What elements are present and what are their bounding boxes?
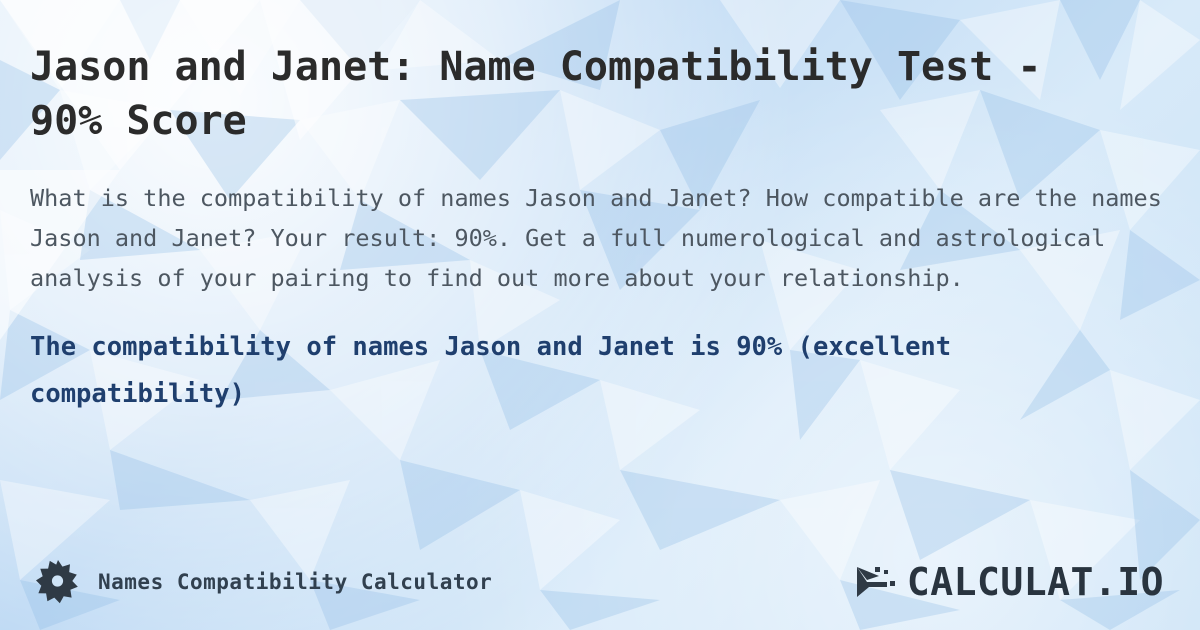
calculatio-mark-icon (853, 561, 897, 603)
page-root: Jason and Janet: Name Compatibility Test… (0, 0, 1200, 630)
page-title: Jason and Janet: Name Compatibility Test… (30, 40, 1120, 148)
footer-brand: Names Compatibility Calculator (36, 560, 492, 604)
compatibility-result: The compatibility of names Jason and Jan… (30, 324, 1150, 418)
footer-brand-label: Names Compatibility Calculator (98, 570, 492, 594)
footer-logo[interactable]: CALCULAT.IO (853, 560, 1164, 604)
page-description: What is the compatibility of names Jason… (30, 178, 1170, 298)
logo-text: CALCULAT.IO (907, 560, 1164, 604)
star-burst-icon (36, 560, 80, 604)
footer-bar: Names Compatibility Calculator CALCULAT.… (0, 534, 1200, 630)
main-content: Jason and Janet: Name Compatibility Test… (0, 0, 1200, 418)
